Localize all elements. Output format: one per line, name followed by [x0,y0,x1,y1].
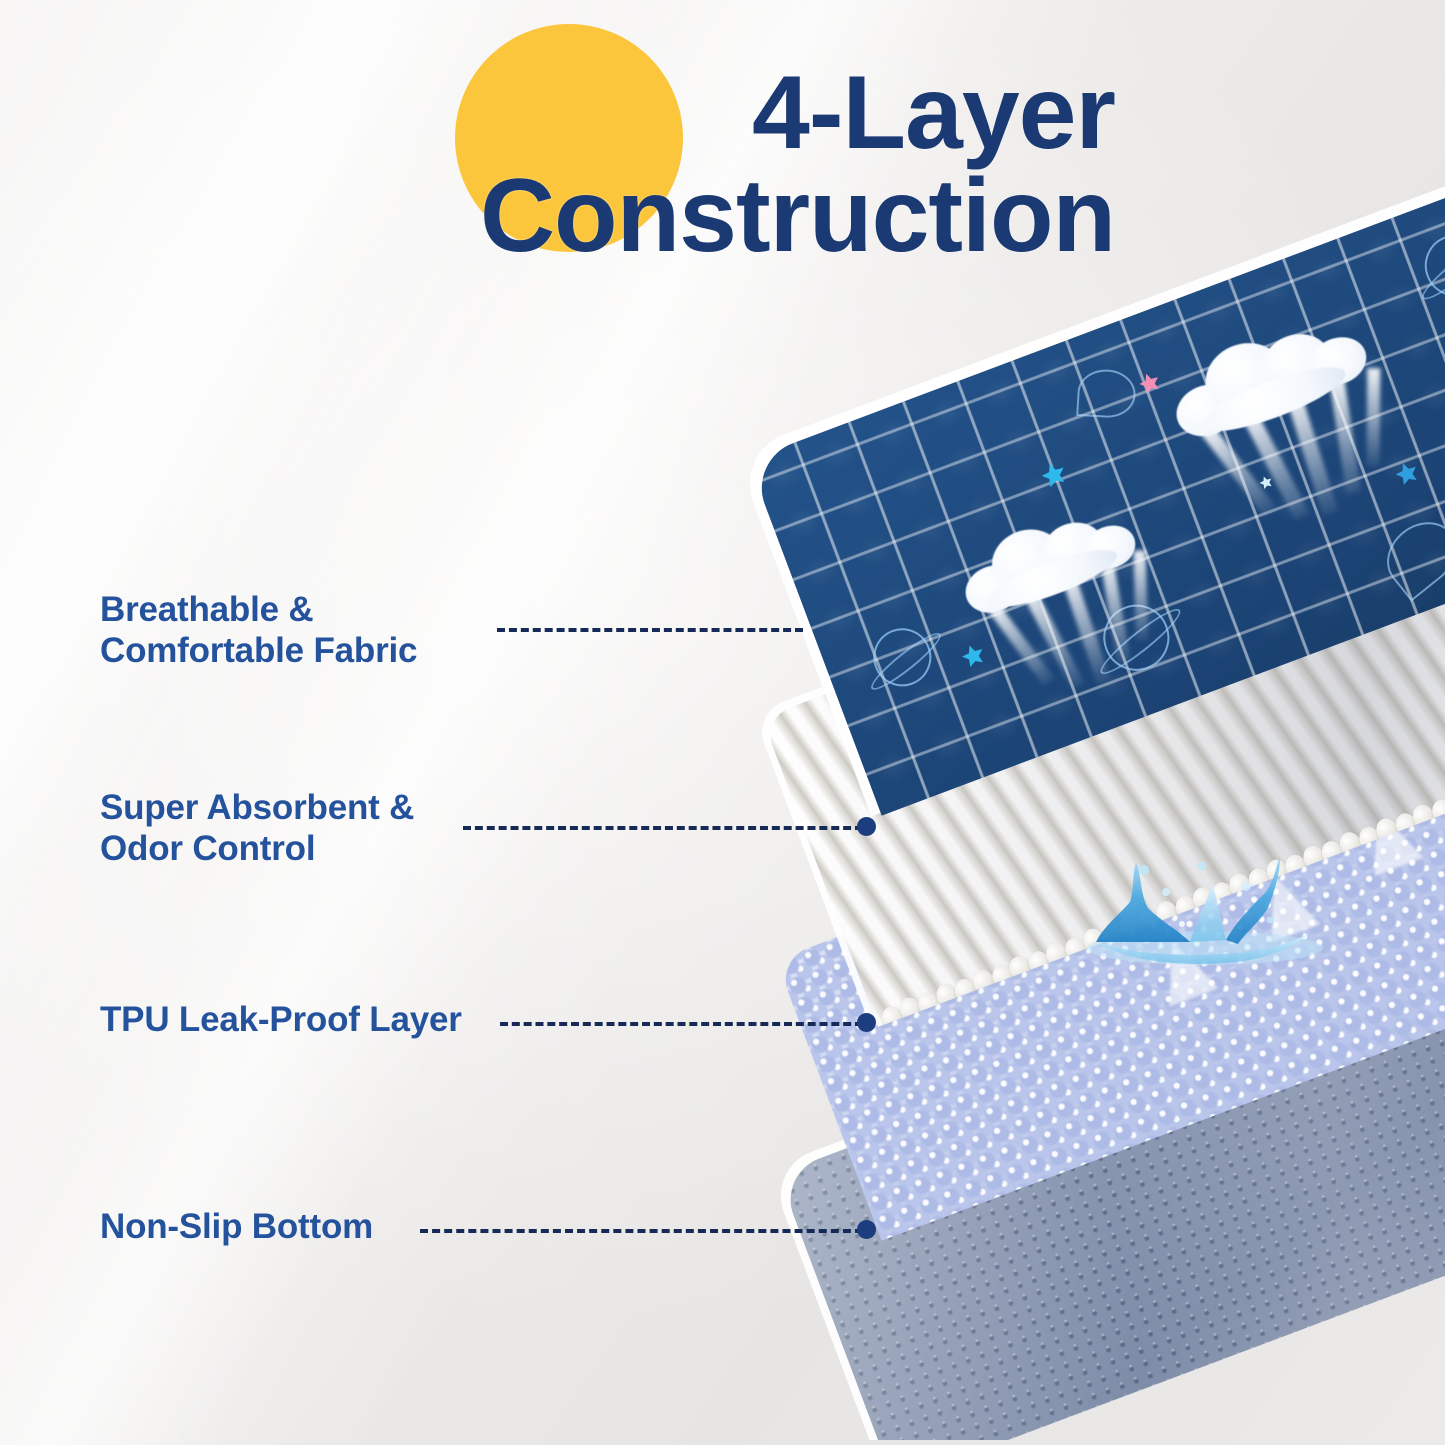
callout-leader-line-super-absorbent [463,826,863,830]
callout-end-dot-super-absorbent [857,817,876,836]
callout-breathable-fabric [0,0,900,120]
callout-label-breathable-fabric: Breathable & Comfortable Fabric [100,590,417,671]
callout-label-tpu-leak-proof: TPU Leak-Proof Layer [100,1000,462,1041]
callout-leader-line-tpu [500,1022,863,1026]
callout-label-non-slip-bottom: Non-Slip Bottom [100,1207,373,1248]
callout-tpu-group: TPU Leak-Proof Layer [0,1000,900,1060]
callout-leader-line-non-slip [420,1229,863,1233]
cloud-breathability-icon [1154,293,1416,497]
callout-breathable-fabric-group: Breathable & Comfortable Fabric [0,590,900,700]
callout-end-dot-non-slip [857,1220,876,1239]
callout-super-absorbent-group: Super Absorbent & Odor Control [0,788,900,898]
cloud-breathability-icon [944,481,1183,667]
callout-non-slip-group: Non-Slip Bottom [0,1207,900,1267]
callout-label-super-absorbent: Super Absorbent & Odor Control [100,788,414,869]
callout-leader-line-breathable-fabric [497,628,803,632]
callout-end-dot-tpu [857,1013,876,1032]
